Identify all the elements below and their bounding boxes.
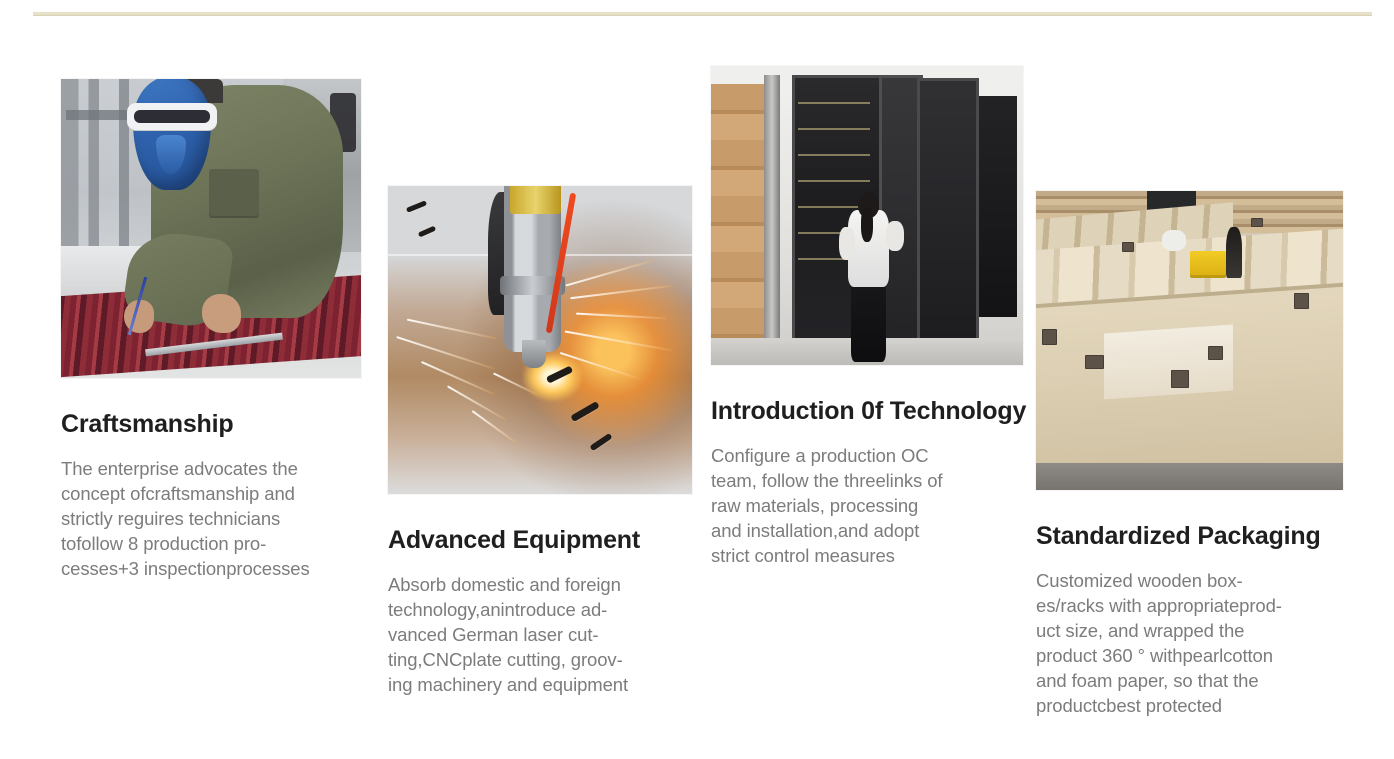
feature-heading: Introduction 0f Technology bbox=[711, 398, 1023, 426]
feature-description: Configure a production OC team, follow t… bbox=[711, 443, 1023, 568]
feature-column-introduction-of-technology: Introduction 0f Technology Configure a p… bbox=[711, 66, 1023, 568]
feature-description: The enterprise advocates the concept ofc… bbox=[61, 456, 361, 581]
feature-heading: Craftsmanship bbox=[61, 411, 361, 439]
showroom-doors-inspection-photo bbox=[711, 66, 1023, 365]
wooden-shipping-crates-photo bbox=[1036, 191, 1343, 490]
top-divider-rule bbox=[33, 12, 1372, 16]
feature-description: Customized wooden box- es/racks with app… bbox=[1036, 568, 1343, 718]
feature-column-standardized-packaging: Standardized Packaging Customized wooden… bbox=[1036, 191, 1343, 718]
feature-column-craftsmanship: Craftsmanship The enterprise advocates t… bbox=[61, 79, 361, 581]
laser-cutting-sparks-photo bbox=[388, 186, 692, 494]
worker-marking-steel-photo bbox=[61, 79, 361, 378]
feature-heading: Advanced Equipment bbox=[388, 527, 692, 555]
feature-heading: Standardized Packaging bbox=[1036, 523, 1343, 551]
feature-column-advanced-equipment: Advanced Equipment Absorb domestic and f… bbox=[388, 186, 692, 697]
feature-description: Absorb domestic and foreign technology,a… bbox=[388, 572, 692, 697]
